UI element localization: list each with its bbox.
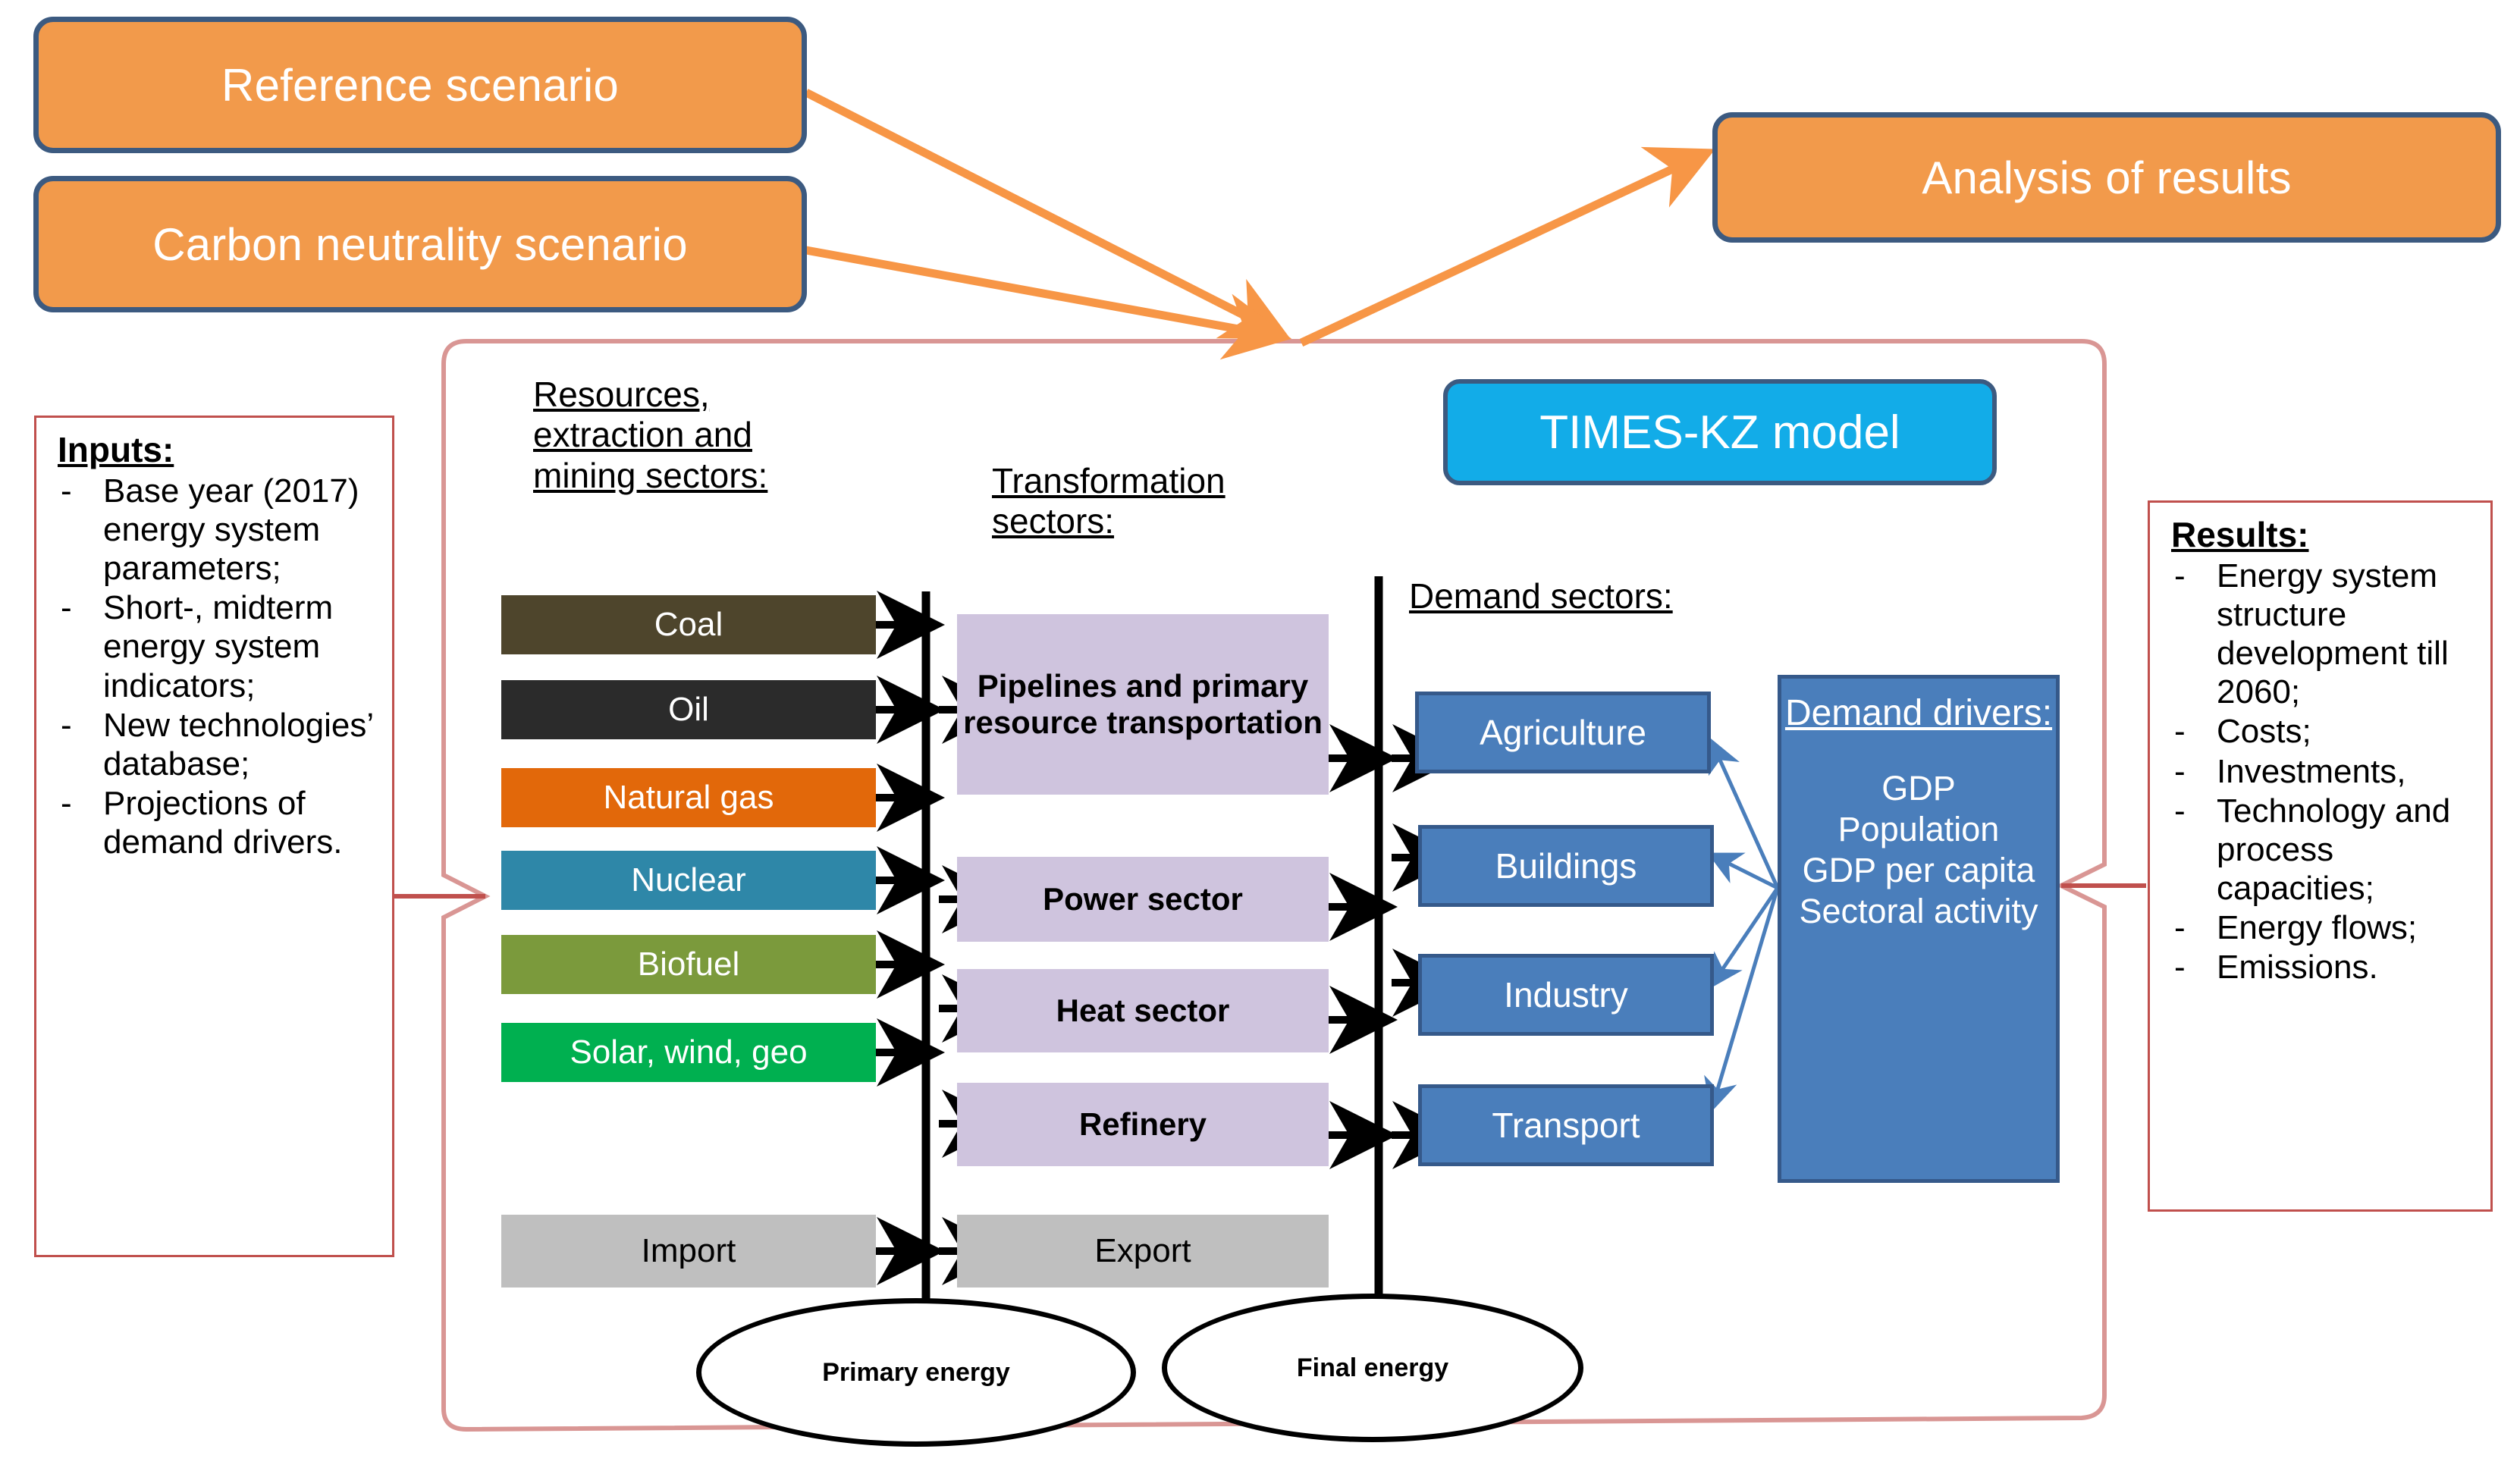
analysis-of-results-label: Analysis of results xyxy=(1922,152,2291,204)
bullet-dash: - xyxy=(61,588,72,627)
results-item-text: Investments, xyxy=(2217,753,2405,790)
transformation-heading: Transformation sectors: xyxy=(992,461,1303,542)
results-item-text: Emissions. xyxy=(2217,949,2378,986)
demand-sector-transport[interactable]: Transport xyxy=(1418,1084,1714,1166)
demand-driver-arrows xyxy=(1712,743,1778,1107)
demand-drivers-list: GDP Population GDP per capita Sectoral a… xyxy=(1799,768,2038,932)
export-label: Export xyxy=(1094,1232,1191,1270)
times-kz-model-box[interactable]: TIMES-KZ model xyxy=(1443,379,1997,485)
list-item: - New technologies’ database; xyxy=(56,706,381,783)
demand-driver-item: Sectoral activity xyxy=(1799,891,2038,932)
demand-driver-item: GDP per capita xyxy=(1799,850,2038,891)
list-item: - Emissions. xyxy=(2170,948,2480,986)
export-box[interactable]: Export xyxy=(957,1215,1329,1288)
results-item-text: Energy system structure development till… xyxy=(2217,557,2449,710)
demand-sector-label: Agriculture xyxy=(1480,712,1646,753)
resource-label: Solar, wind, geo xyxy=(570,1033,807,1071)
inputs-item-text: Base year (2017) energy system parameter… xyxy=(103,472,359,587)
demand-drivers-title: Demand drivers: xyxy=(1785,692,2052,735)
primary-energy-label: Primary energy xyxy=(822,1358,1010,1388)
list-item: - Short-, midterm energy system indicato… xyxy=(56,588,381,704)
transformation-label: Power sector xyxy=(1043,881,1243,917)
resource-coal[interactable]: Coal xyxy=(501,595,876,654)
results-item-text: Technology and process capacities; xyxy=(2217,792,2450,907)
bullet-dash: - xyxy=(61,706,72,745)
resources-heading: Resources, extraction and mining sectors… xyxy=(533,375,852,496)
resource-solar-wind-geo[interactable]: Solar, wind, geo xyxy=(501,1023,876,1082)
reference-scenario-box[interactable]: Reference scenario xyxy=(33,17,807,153)
results-item-text: Energy flows; xyxy=(2217,909,2417,946)
transformation-to-bus-arrows xyxy=(1329,758,1387,1135)
resource-label: Nuclear xyxy=(631,861,746,899)
demand-sector-label: Industry xyxy=(1504,974,1628,1015)
scenario-arrows xyxy=(806,93,1705,343)
demand-driver-item: GDP xyxy=(1799,768,2038,809)
transformation-refinery[interactable]: Refinery xyxy=(957,1083,1329,1166)
import-box[interactable]: Import xyxy=(501,1215,876,1288)
resource-nuclear[interactable]: Nuclear xyxy=(501,851,876,910)
list-item: - Energy flows; xyxy=(2170,908,2480,947)
resource-arrows xyxy=(876,625,934,1251)
bullet-dash: - xyxy=(61,784,72,823)
demand-drivers-box[interactable]: Demand drivers: GDP Population GDP per c… xyxy=(1778,675,2060,1183)
inputs-title: Inputs: xyxy=(58,430,381,470)
resource-label: Biofuel xyxy=(638,946,740,983)
results-list: - Energy system structure development ti… xyxy=(2170,557,2480,986)
final-energy-node: Final energy xyxy=(1162,1294,1583,1442)
list-item: - Base year (2017) energy system paramet… xyxy=(56,472,381,588)
transformation-label: Refinery xyxy=(1079,1106,1207,1143)
demand-sector-agriculture[interactable]: Agriculture xyxy=(1415,692,1711,773)
transformation-pipelines[interactable]: Pipelines and primary resource transport… xyxy=(957,614,1329,795)
inputs-item-text: Projections of demand drivers. xyxy=(103,785,342,861)
list-item: - Energy system structure development ti… xyxy=(2170,557,2480,711)
list-item: - Investments, xyxy=(2170,752,2480,791)
transformation-heat-sector[interactable]: Heat sector xyxy=(957,969,1329,1052)
list-item: - Projections of demand drivers. xyxy=(56,784,381,861)
bullet-dash: - xyxy=(2174,712,2186,751)
results-title: Results: xyxy=(2171,515,2480,555)
demand-sector-label: Transport xyxy=(1492,1105,1640,1146)
resource-natural-gas[interactable]: Natural gas xyxy=(501,768,876,827)
list-item: - Costs; xyxy=(2170,712,2480,751)
bullet-dash: - xyxy=(2174,557,2186,595)
import-label: Import xyxy=(642,1232,736,1270)
inputs-item-text: Short-, midterm energy system indicators… xyxy=(103,589,333,704)
resource-label: Natural gas xyxy=(603,779,774,817)
demand-driver-item: Population xyxy=(1799,809,2038,850)
resource-oil[interactable]: Oil xyxy=(501,680,876,739)
results-item-text: Costs; xyxy=(2217,713,2311,750)
final-energy-label: Final energy xyxy=(1297,1353,1448,1383)
transformation-power-sector[interactable]: Power sector xyxy=(957,857,1329,942)
carbon-neutrality-scenario-box[interactable]: Carbon neutrality scenario xyxy=(33,176,807,312)
inputs-box: Inputs: - Base year (2017) energy system… xyxy=(34,416,394,1257)
demand-sector-industry[interactable]: Industry xyxy=(1418,954,1714,1036)
bus-to-demand-arrows xyxy=(1392,758,1450,1135)
bullet-dash: - xyxy=(2174,908,2186,947)
reference-scenario-label: Reference scenario xyxy=(221,59,619,111)
bullet-dash: - xyxy=(2174,752,2186,791)
resource-label: Oil xyxy=(668,691,709,729)
carbon-neutrality-scenario-label: Carbon neutrality scenario xyxy=(152,218,688,271)
demand-heading: Demand sectors: xyxy=(1409,576,1750,616)
transformation-label: Pipelines and primary resource transport… xyxy=(957,668,1329,741)
demand-sector-label: Buildings xyxy=(1495,845,1637,886)
list-item: - Technology and process capacities; xyxy=(2170,792,2480,908)
results-box: Results: - Energy system structure devel… xyxy=(2148,500,2493,1212)
times-kz-model-label: TIMES-KZ model xyxy=(1539,406,1900,459)
inputs-item-text: New technologies’ database; xyxy=(103,707,372,783)
transformation-label: Heat sector xyxy=(1056,993,1230,1029)
primary-energy-node: Primary energy xyxy=(696,1298,1136,1447)
bullet-dash: - xyxy=(2174,792,2186,830)
bullet-dash: - xyxy=(61,472,72,510)
inputs-list: - Base year (2017) energy system paramet… xyxy=(56,472,381,861)
bullet-dash: - xyxy=(2174,948,2186,986)
analysis-of-results-box[interactable]: Analysis of results xyxy=(1712,112,2501,243)
demand-sector-buildings[interactable]: Buildings xyxy=(1418,825,1714,907)
resource-biofuel[interactable]: Biofuel xyxy=(501,935,876,994)
resource-label: Coal xyxy=(654,606,723,644)
